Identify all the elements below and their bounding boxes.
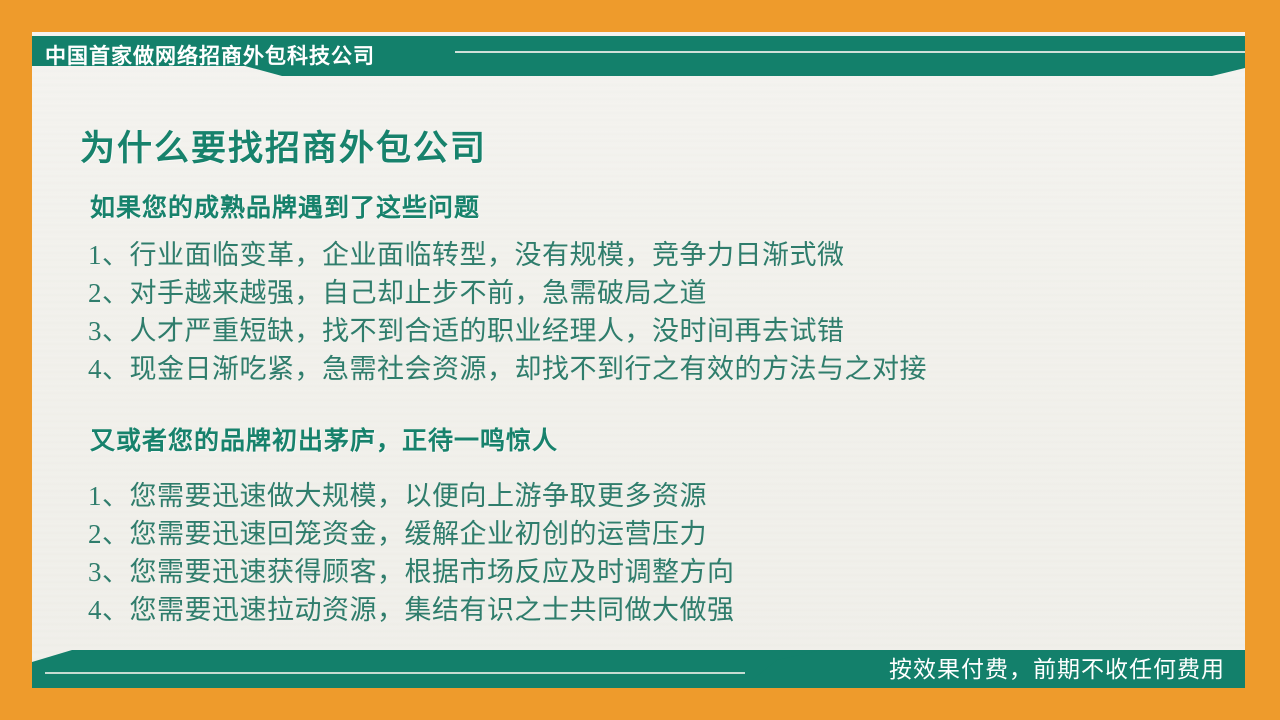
- section-heading-problems: 如果您的成熟品牌遇到了这些问题: [90, 188, 480, 224]
- header-band-divider-line: [455, 51, 1245, 53]
- page-title: 为什么要找招商外包公司: [80, 120, 487, 171]
- list-item: 1、行业面临变革，企业面临转型，没有规模，竞争力日渐式微: [88, 236, 927, 274]
- slide-root: 中国首家做网络招商外包科技公司 为什么要找招商外包公司 如果您的成熟品牌遇到了这…: [0, 0, 1280, 720]
- section-heading-newbrand: 又或者您的品牌初出茅庐，正待一鸣惊人: [90, 421, 558, 457]
- problem-list: 1、行业面临变革，企业面临转型，没有规模，竞争力日渐式微 2、对手越来越强，自己…: [88, 236, 927, 388]
- newbrand-list: 1、您需要迅速做大规模，以便向上游争取更多资源 2、您需要迅速回笼资金，缓解企业…: [88, 477, 735, 629]
- footer-band-divider-line: [45, 672, 745, 674]
- list-item: 4、您需要迅速拉动资源，集结有识之士共同做大做强: [88, 591, 735, 629]
- list-item: 2、您需要迅速回笼资金，缓解企业初创的运营压力: [88, 515, 735, 553]
- footer-slogan: 按效果付费，前期不收任何费用: [889, 653, 1225, 685]
- list-item: 1、您需要迅速做大规模，以便向上游争取更多资源: [88, 477, 735, 515]
- list-item: 3、您需要迅速获得顾客，根据市场反应及时调整方向: [88, 553, 735, 591]
- header-title: 中国首家做网络招商外包科技公司: [45, 42, 465, 72]
- list-item: 2、对手越来越强，自己却止步不前，急需破局之道: [88, 274, 927, 312]
- list-item: 4、现金日渐吃紧，急需社会资源，却找不到行之有效的方法与之对接: [88, 350, 927, 388]
- list-item: 3、人才严重短缺，找不到合适的职业经理人，没时间再去试错: [88, 312, 927, 350]
